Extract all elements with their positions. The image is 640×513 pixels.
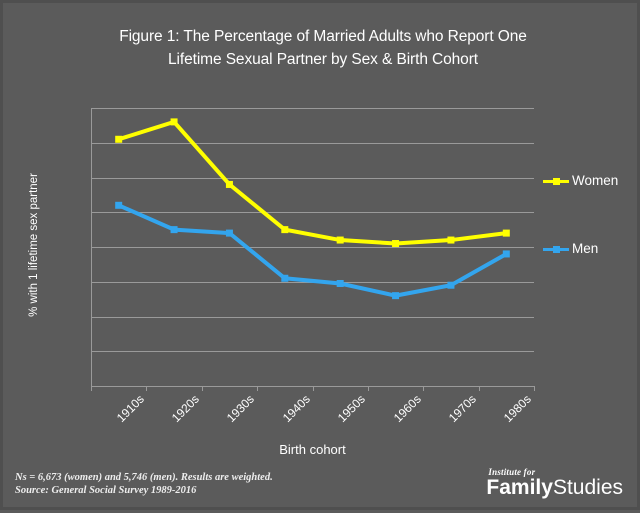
chart-title: Figure 1: The Percentage of Married Adul… <box>63 25 583 71</box>
data-point-marker <box>392 292 399 299</box>
y-axis-title: % with 1 lifetime sex partner <box>28 145 40 345</box>
data-point-marker <box>226 230 233 237</box>
series-lines <box>91 108 534 386</box>
data-point-marker <box>447 237 454 244</box>
x-axis-tick <box>146 386 147 391</box>
x-axis-tick <box>313 386 314 391</box>
x-axis-tick <box>91 386 92 391</box>
data-point-marker <box>226 181 233 188</box>
legend-item-men[interactable]: Men <box>543 241 598 256</box>
chart-title-line-2: Lifetime Sexual Partner by Sex & Birth C… <box>63 48 583 71</box>
data-point-marker <box>447 282 454 289</box>
data-point-marker <box>503 250 510 257</box>
institute-for-family-studies-logo: Institute for FamilyStudies <box>486 467 623 499</box>
data-point-marker <box>115 202 122 209</box>
x-axis-tick <box>202 386 203 391</box>
legend-label-men: Men <box>572 241 598 256</box>
chart-title-line-1: Figure 1: The Percentage of Married Adul… <box>63 25 583 48</box>
data-point-marker <box>337 237 344 244</box>
logo-family-text: Family <box>486 476 553 499</box>
x-axis-tick <box>423 386 424 391</box>
data-point-marker <box>281 226 288 233</box>
data-point-marker <box>115 136 122 143</box>
data-point-marker <box>392 240 399 247</box>
logo-wordmark: FamilyStudies <box>486 476 623 499</box>
x-axis-tick <box>257 386 258 391</box>
legend-swatch-women <box>543 174 569 188</box>
data-point-marker <box>281 275 288 282</box>
x-axis-tick <box>534 386 535 391</box>
footnote: Ns = 6,673 (women) and 5,746 (men). Resu… <box>15 471 273 497</box>
legend-label-women: Women <box>572 173 618 188</box>
data-point-marker <box>171 226 178 233</box>
series-line-women <box>119 122 507 244</box>
legend-swatch-men <box>543 242 569 256</box>
footnote-line-2: Source: General Social Survey 1989-2016 <box>15 484 273 497</box>
x-axis-tick <box>479 386 480 391</box>
footnote-line-1: Ns = 6,673 (women) and 5,746 (men). Resu… <box>15 471 273 484</box>
x-axis-tick <box>368 386 369 391</box>
figure-container: Figure 1: The Percentage of Married Adul… <box>0 0 640 510</box>
logo-studies-text: Studies <box>553 476 623 499</box>
legend-item-women[interactable]: Women <box>543 173 618 188</box>
plot-area <box>91 108 534 386</box>
data-point-marker <box>503 230 510 237</box>
data-point-marker <box>337 280 344 287</box>
data-point-marker <box>171 118 178 125</box>
x-axis-title: Birth cohort <box>91 442 534 457</box>
